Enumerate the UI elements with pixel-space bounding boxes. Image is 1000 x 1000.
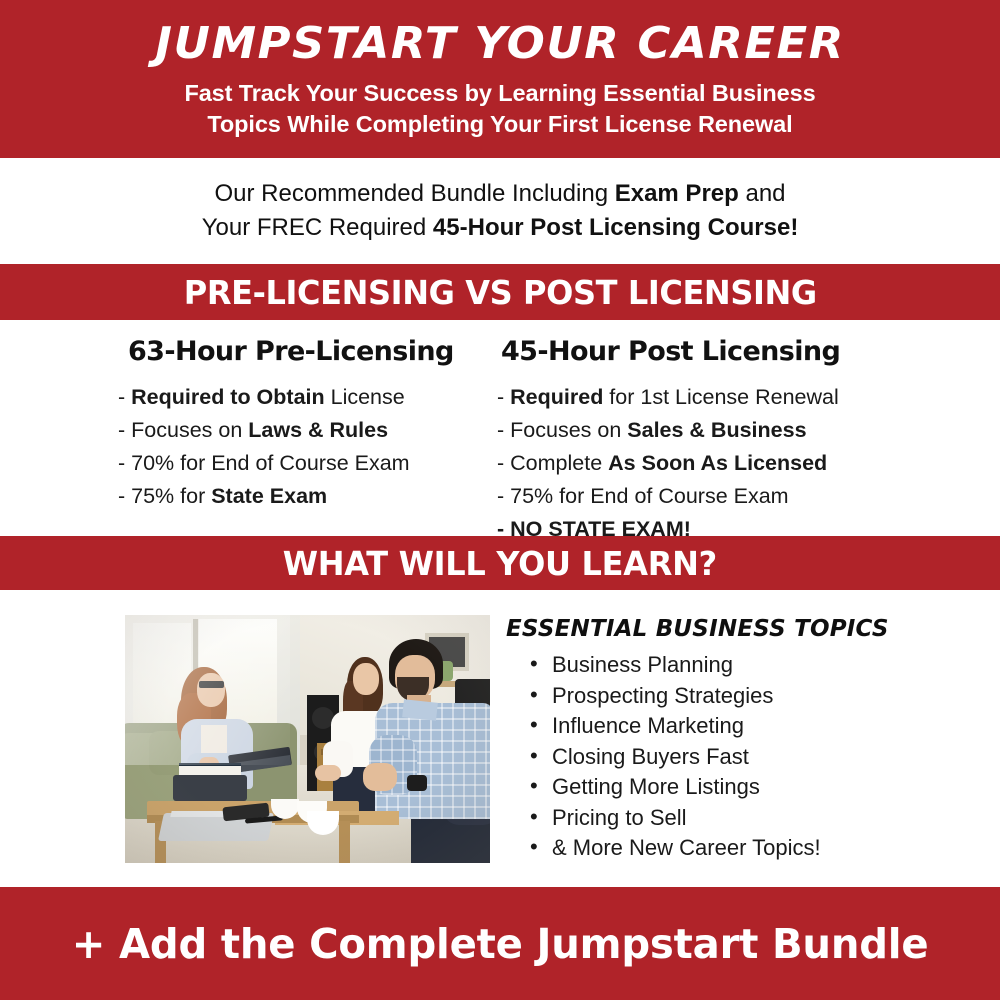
pre-licensing-heading: 63-Hour Pre-Licensing	[118, 336, 475, 367]
recommendation-strip: Our Recommended Bundle Including Exam Pr…	[0, 158, 1000, 264]
topics-list: Business Planning Prospecting Strategies…	[506, 650, 946, 864]
item-bold: Sales & Business	[627, 418, 806, 442]
item-bold: Laws & Rules	[248, 418, 388, 442]
list-item: Closing Buyers Fast	[530, 742, 946, 773]
compare-banner: PRE-LICENSING VS POST LICENSING	[0, 264, 1000, 320]
list-item: Influence Marketing	[530, 711, 946, 742]
item-text: Focuses on	[510, 418, 627, 442]
list-item: - 75% for State Exam	[118, 480, 475, 513]
post-licensing-column: 45-Hour Post Licensing - Required for 1s…	[475, 320, 1000, 536]
dash: -	[497, 385, 510, 409]
post-licensing-list: - Required for 1st License Renewal - Foc…	[497, 381, 1000, 545]
add-bundle-cta[interactable]: + Add the Complete Jumpstart Bundle	[0, 887, 1000, 1000]
topics-heading: ESSENTIAL BUSINESS TOPICS	[506, 616, 946, 642]
hero-subtitle: Fast Track Your Success by Learning Esse…	[184, 78, 815, 141]
learn-section: ESSENTIAL BUSINESS TOPICS Business Plann…	[0, 590, 1000, 887]
list-item: - Focuses on Sales & Business	[497, 414, 1000, 447]
item-bold: State Exam	[211, 484, 327, 508]
topics-panel: ESSENTIAL BUSINESS TOPICS Business Plann…	[506, 616, 946, 864]
dash: -	[118, 451, 131, 475]
list-item: - 70% for End of Course Exam	[118, 447, 475, 480]
item-bold: As Soon As Licensed	[608, 451, 827, 475]
item-bold: Required	[510, 385, 603, 409]
item-text: 70% for End of Course Exam	[131, 451, 409, 475]
list-item: Prospecting Strategies	[530, 681, 946, 712]
hero-title: JUMPSTART YOUR CAREER	[155, 21, 845, 67]
learn-banner: WHAT WILL YOU LEARN?	[0, 536, 1000, 590]
hero-subtitle-line-2: Topics While Completing Your First Licen…	[184, 109, 815, 140]
list-item: Pricing to Sell	[530, 803, 946, 834]
pre-licensing-column: 63-Hour Pre-Licensing - Required to Obta…	[0, 320, 475, 536]
item-text: for 1st License Renewal	[603, 385, 838, 409]
list-item: - Complete As Soon As Licensed	[497, 447, 1000, 480]
reco-l1-text-a: Our Recommended Bundle Including	[214, 180, 614, 207]
dash: -	[497, 418, 510, 442]
reco-l2-text-a: Your FREC Required	[202, 214, 433, 241]
item-text: 75% for	[131, 484, 211, 508]
list-item: - Focuses on Laws & Rules	[118, 414, 475, 447]
pre-licensing-list: - Required to Obtain License - Focuses o…	[118, 381, 475, 513]
hero-banner: JUMPSTART YOUR CAREER Fast Track Your Su…	[0, 0, 1000, 158]
item-text: Focuses on	[131, 418, 248, 442]
dash: -	[497, 451, 510, 475]
list-item: Business Planning	[530, 650, 946, 681]
compare-banner-label: PRE-LICENSING VS POST LICENSING	[183, 273, 816, 312]
dash: -	[497, 484, 510, 508]
list-item: - Required for 1st License Renewal	[497, 381, 1000, 414]
add-bundle-cta-label: + Add the Complete Jumpstart Bundle	[72, 920, 929, 968]
item-text: Complete	[510, 451, 608, 475]
post-licensing-heading: 45-Hour Post Licensing	[497, 336, 1000, 367]
promo-flyer: JUMPSTART YOUR CAREER Fast Track Your Su…	[0, 0, 1000, 1000]
hero-subtitle-line-1: Fast Track Your Success by Learning Esse…	[184, 78, 815, 109]
item-text: 75% for End of Course Exam	[510, 484, 788, 508]
dash: -	[118, 385, 131, 409]
item-text: License	[325, 385, 405, 409]
recommendation-line-2: Your FREC Required 45-Hour Post Licensin…	[202, 211, 799, 245]
list-item: - Required to Obtain License	[118, 381, 475, 414]
reco-l1-bold: Exam Prep	[615, 180, 739, 207]
dash: -	[118, 418, 131, 442]
item-bold: Required to Obtain	[131, 385, 325, 409]
reco-l1-text-b: and	[739, 180, 786, 207]
compare-section: 63-Hour Pre-Licensing - Required to Obta…	[0, 320, 1000, 536]
learn-banner-label: WHAT WILL YOU LEARN?	[283, 544, 717, 583]
dash: -	[118, 484, 131, 508]
recommendation-line-1: Our Recommended Bundle Including Exam Pr…	[214, 177, 785, 211]
list-item: Getting More Listings	[530, 772, 946, 803]
meeting-photo	[125, 615, 490, 863]
reco-l2-bold: 45-Hour Post Licensing Course!	[433, 214, 798, 241]
list-item: & More New Career Topics!	[530, 833, 946, 864]
list-item: - 75% for End of Course Exam	[497, 480, 1000, 513]
